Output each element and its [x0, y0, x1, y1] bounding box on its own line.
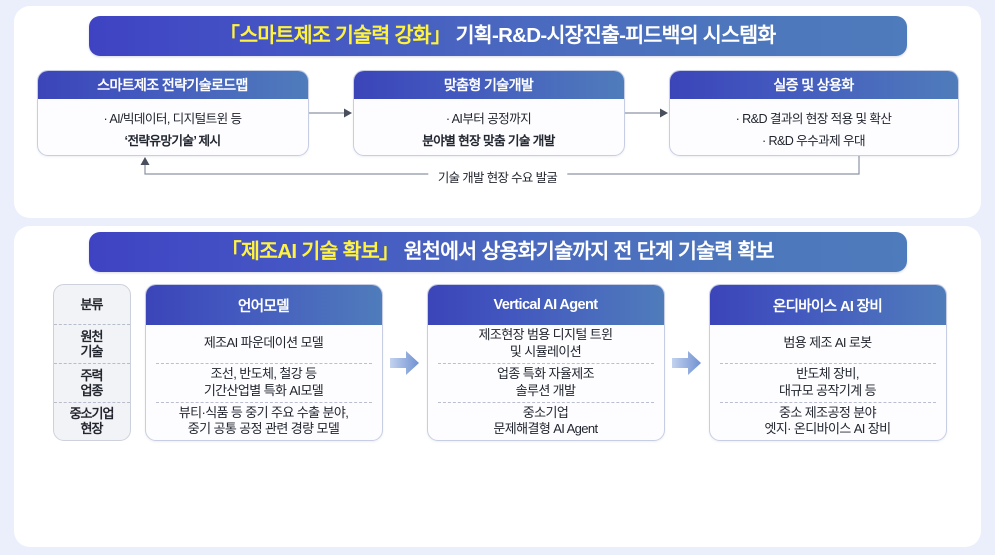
flow-card-commercialization-line-2: · R&D 우수과제 우대 — [762, 130, 865, 149]
matrix-cell-lm-industry-line-2: 기간산업별 특화 AI모델 — [204, 383, 323, 400]
matrix-cell-od-industry-line-1: 반도체 장비, — [796, 366, 859, 383]
feedback-loop-label: 기술 개발 현장 수요 발굴 — [428, 168, 567, 186]
matrix-column-on-device-ai-equipment[interactable]: 온디바이스 AI 장비 범용 제조 AI 로봇 반도체 장비, 대규모 공작기계… — [709, 284, 947, 441]
matrix-column-language-model-title: 언어모델 — [146, 285, 382, 325]
section-1-banner-highlight: 「스마트제조 기술력 강화」 — [219, 24, 450, 47]
infographic-page: 「스마트제조 기술력 강화」 기획-R&D-시장진출-피드백의 시스템화 스마트… — [0, 0, 995, 555]
section-2-banner-highlight: 「제조AI 기술 확보」 — [221, 240, 399, 263]
section-1-banner-text: 「스마트제조 기술력 강화」 기획-R&D-시장진출-피드백의 시스템화 — [219, 26, 775, 47]
matrix-cell-od-sme: 중소 제조공정 분야 엣지· 온디바이스 AI 장비 — [720, 403, 936, 441]
feedback-loop: 기술 개발 현장 수요 발굴 — [128, 156, 868, 196]
matrix-category-column: 분류 원천기술 주력업종 중소기업현장 — [53, 284, 131, 441]
matrix-column-vertical-ai-agent-title: Vertical AI Agent — [428, 285, 664, 325]
matrix-category-sme-field: 중소기업현장 — [54, 403, 130, 441]
matrix-cell-va-source: 제조현장 범용 디지털 트윈 및 시뮬레이션 — [438, 325, 654, 364]
matrix-arrow-2 — [665, 284, 709, 441]
matrix-cell-lm-sme: 뷰티·식품 등 중기 주요 수출 분야, 중기 공통 공정 관련 경량 모델 — [156, 403, 372, 441]
matrix-arrow-1 — [383, 284, 427, 441]
matrix-category-header: 분류 — [54, 285, 130, 325]
matrix-cell-va-industry-line-2: 솔루션 개발 — [516, 383, 576, 400]
matrix-column-vertical-ai-agent[interactable]: Vertical AI Agent 제조현장 범용 디지털 트윈 및 시뮬레이션… — [427, 284, 665, 441]
matrix-cell-lm-source: 제조AI 파운데이션 모델 — [156, 325, 372, 364]
flow-card-custom-dev-title: 맞춤형 기술개발 — [354, 71, 624, 99]
matrix-cell-va-industry: 업종 특화 자율제조 솔루션 개발 — [438, 364, 654, 403]
section-1-panel: 「스마트제조 기술력 강화」 기획-R&D-시장진출-피드백의 시스템화 스마트… — [14, 6, 981, 218]
matrix-column-language-model[interactable]: 언어모델 제조AI 파운데이션 모델 조선, 반도체, 철강 등 기간산업별 특… — [145, 284, 383, 441]
matrix-category-header-label: 분류 — [81, 297, 103, 312]
matrix-cell-lm-sme-line-2: 중기 공통 공정 관련 경량 모델 — [188, 421, 339, 438]
matrix-cell-va-industry-line-1: 업종 특화 자율제조 — [497, 366, 594, 383]
matrix-cell-od-sme-line-1: 중소 제조공정 분야 — [779, 405, 876, 422]
matrix-cell-va-sme-line-1: 중소기업 — [523, 405, 568, 422]
matrix-category-source-tech-label: 원천기술 — [81, 329, 103, 359]
matrix-category-sme-field-label: 중소기업현장 — [70, 406, 114, 436]
flow-card-commercialization-body: · R&D 결과의 현장 적용 및 확산 · R&D 우수과제 우대 — [670, 99, 958, 156]
matrix-column-on-device-ai-equipment-title: 온디바이스 AI 장비 — [710, 285, 946, 325]
flow-card-custom-dev-line-2: 분야별 현장 맞춤 기술 개발 — [422, 130, 554, 149]
section-2-banner: 「제조AI 기술 확보」 원천에서 상용화기술까지 전 단계 기술력 확보 — [89, 232, 907, 272]
matrix-gap-1 — [131, 284, 145, 441]
flow-card-roadmap-title: 스마트제조 전략기술로드맵 — [38, 71, 308, 99]
flow-card-commercialization[interactable]: 실증 및 상용화 · R&D 결과의 현장 적용 및 확산 · R&D 우수과제… — [669, 70, 959, 156]
flow-card-custom-dev-line-1: · AI부터 공정까지 — [446, 108, 531, 127]
technology-matrix: 분류 원천기술 주력업종 중소기업현장 언어모델 제조AI 파운데이션 모델 조… — [14, 284, 981, 441]
matrix-cell-lm-sme-line-1: 뷰티·식품 등 중기 주요 수출 분야, — [179, 405, 348, 422]
flow-card-commercialization-title: 실증 및 상용화 — [670, 71, 958, 99]
section-2-banner-text: 「제조AI 기술 확보」 원천에서 상용화기술까지 전 단계 기술력 확보 — [221, 242, 774, 263]
matrix-cell-lm-industry-line-1: 조선, 반도체, 철강 등 — [211, 366, 317, 383]
matrix-cell-va-sme-line-2: 문제해결형 AI Agent — [493, 421, 597, 438]
flow-card-custom-dev-body: · AI부터 공정까지 분야별 현장 맞춤 기술 개발 — [354, 99, 624, 156]
matrix-cell-od-industry: 반도체 장비, 대규모 공작기계 등 — [720, 364, 936, 403]
matrix-cell-od-sme-line-2: 엣지· 온디바이스 AI 장비 — [764, 421, 890, 438]
flow-card-roadmap-body: · AI/빅데이터, 디지털트윈 등 ‘전략유망기술’ 제시 — [38, 99, 308, 156]
matrix-cell-va-source-line-1: 제조현장 범용 디지털 트윈 — [479, 327, 613, 344]
flow-card-roadmap-line-1: · AI/빅데이터, 디지털트윈 등 — [104, 108, 242, 127]
matrix-cell-od-source: 범용 제조 AI 로봇 — [720, 325, 936, 364]
matrix-cell-va-source-line-2: 및 시뮬레이션 — [510, 344, 581, 361]
flow-card-roadmap-line-2: ‘전략유망기술’ 제시 — [125, 130, 221, 149]
matrix-cell-va-sme: 중소기업 문제해결형 AI Agent — [438, 403, 654, 441]
matrix-cell-lm-source-line-1: 제조AI 파운데이션 모델 — [204, 335, 323, 352]
flow-card-custom-dev[interactable]: 맞춤형 기술개발 · AI부터 공정까지 분야별 현장 맞춤 기술 개발 — [353, 70, 625, 156]
section-2-panel: 「제조AI 기술 확보」 원천에서 상용화기술까지 전 단계 기술력 확보 분류… — [14, 226, 981, 547]
matrix-cell-od-industry-line-2: 대규모 공작기계 등 — [779, 383, 876, 400]
matrix-category-source-tech: 원천기술 — [54, 325, 130, 364]
section-1-banner: 「스마트제조 기술력 강화」 기획-R&D-시장진출-피드백의 시스템화 — [89, 16, 907, 56]
section-1-flow: 스마트제조 전략기술로드맵 · AI/빅데이터, 디지털트윈 등 ‘전략유망기술… — [14, 70, 981, 156]
section-2-banner-rest: 원천에서 상용화기술까지 전 단계 기술력 확보 — [399, 240, 774, 263]
flow-arrow-2 — [625, 70, 669, 156]
matrix-cell-lm-industry: 조선, 반도체, 철강 등 기간산업별 특화 AI모델 — [156, 364, 372, 403]
matrix-category-main-industry-label: 주력업종 — [81, 368, 103, 398]
matrix-category-main-industry: 주력업종 — [54, 364, 130, 403]
flow-card-commercialization-line-1: · R&D 결과의 현장 적용 및 확산 — [736, 108, 892, 127]
section-1-banner-rest: 기획-R&D-시장진출-피드백의 시스템화 — [451, 24, 776, 47]
flow-card-roadmap[interactable]: 스마트제조 전략기술로드맵 · AI/빅데이터, 디지털트윈 등 ‘전략유망기술… — [37, 70, 309, 156]
flow-arrow-1 — [309, 70, 353, 156]
matrix-cell-od-source-line-1: 범용 제조 AI 로봇 — [783, 335, 871, 352]
